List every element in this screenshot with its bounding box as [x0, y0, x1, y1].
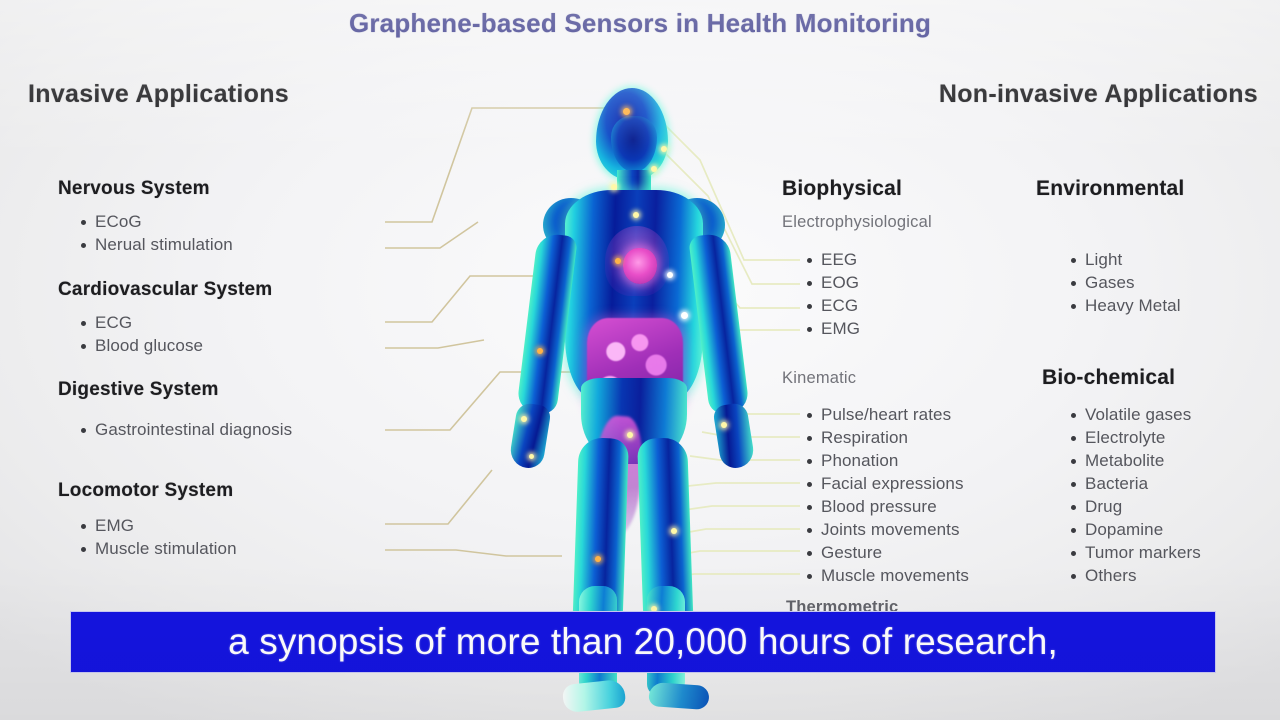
- group-title-locomotor-system: Locomotor System: [58, 480, 233, 502]
- group-title-biophysical: Biophysical: [782, 177, 902, 201]
- sensor-marker-finger-left: [529, 454, 534, 459]
- slide-canvas: Graphene-based Sensors in Health Monitor…: [0, 0, 1280, 720]
- sensor-marker-head: [623, 108, 630, 115]
- subgroup-label-kinematic: Kinematic: [782, 369, 856, 388]
- list-item: Gastrointestinal diagnosis: [78, 418, 292, 441]
- list-item: Pulse/heart rates: [804, 403, 969, 426]
- list-item: EOG: [804, 271, 860, 294]
- list-item: Muscle stimulation: [78, 537, 237, 560]
- sensor-marker-knee-left: [595, 556, 601, 562]
- list-bio-chemical: Volatile gases Electrolyte Metabolite Ba…: [1068, 403, 1201, 587]
- group-title-bio-chemical: Bio-chemical: [1042, 366, 1175, 390]
- sensor-marker-groin: [627, 432, 633, 438]
- list-item: Bacteria: [1068, 472, 1201, 495]
- list-electrophysiological: EEG EOG ECG EMG: [804, 248, 860, 340]
- figure-heart: [623, 248, 657, 284]
- subtitle-caption-text: a synopsis of more than 20,000 hours of …: [228, 621, 1058, 663]
- figure-hand-left: [508, 402, 552, 471]
- list-nervous-system: ECoG Nerual stimulation: [78, 210, 233, 256]
- subtitle-caption-bar: a synopsis of more than 20,000 hours of …: [70, 611, 1216, 673]
- sensor-marker-elbow-left: [537, 348, 543, 354]
- group-title-environmental: Environmental: [1036, 177, 1184, 201]
- list-item: Blood pressure: [804, 495, 969, 518]
- list-item: Blood glucose: [78, 334, 203, 357]
- sensor-marker-neck: [611, 184, 617, 190]
- group-title-digestive-system: Digestive System: [58, 379, 219, 401]
- list-item: EEG: [804, 248, 860, 271]
- sensor-marker-sternum: [667, 272, 673, 278]
- sensor-marker-wrist-left: [521, 416, 527, 422]
- subgroup-label-electrophysiological: Electrophysiological: [782, 213, 932, 232]
- list-item: Tumor markers: [1068, 541, 1201, 564]
- figure-hand-right: [712, 402, 756, 471]
- list-digestive-system: Gastrointestinal diagnosis: [78, 418, 292, 441]
- list-item: Electrolyte: [1068, 426, 1201, 449]
- list-item: Muscle movements: [804, 564, 969, 587]
- list-item: Dopamine: [1068, 518, 1201, 541]
- list-item: Volatile gases: [1068, 403, 1201, 426]
- list-environmental: Light Gases Heavy Metal: [1068, 248, 1181, 317]
- sensor-marker-rib: [681, 312, 688, 319]
- section-header-non-invasive: Non-invasive Applications: [939, 80, 1258, 109]
- group-title-nervous-system: Nervous System: [58, 178, 210, 200]
- list-item: EMG: [78, 514, 237, 537]
- list-item: ECG: [78, 311, 203, 334]
- list-item: EMG: [804, 317, 860, 340]
- list-kinematic: Pulse/heart rates Respiration Phonation …: [804, 403, 969, 587]
- list-item: Heavy Metal: [1068, 294, 1181, 317]
- list-item: Phonation: [804, 449, 969, 472]
- section-header-invasive: Invasive Applications: [28, 80, 289, 109]
- list-item: Drug: [1068, 495, 1201, 518]
- list-item: Respiration: [804, 426, 969, 449]
- sensor-marker-eye: [651, 166, 657, 172]
- sensor-marker-chest: [615, 258, 621, 264]
- list-item: ECG: [804, 294, 860, 317]
- list-locomotor-system: EMG Muscle stimulation: [78, 514, 237, 560]
- sensor-marker-hand-right: [721, 422, 727, 428]
- list-item: Nerual stimulation: [78, 233, 233, 256]
- list-item: Joints movements: [804, 518, 969, 541]
- figure-foot-right: [648, 682, 710, 710]
- list-item: Metabolite: [1068, 449, 1201, 472]
- list-item: Others: [1068, 564, 1201, 587]
- list-item: Gesture: [804, 541, 969, 564]
- list-item: Gases: [1068, 271, 1181, 294]
- list-item: Light: [1068, 248, 1181, 271]
- sensor-marker-temple: [661, 146, 667, 152]
- list-item: ECoG: [78, 210, 233, 233]
- list-item: Facial expressions: [804, 472, 969, 495]
- list-cardiovascular-system: ECG Blood glucose: [78, 311, 203, 357]
- group-title-cardiovascular-system: Cardiovascular System: [58, 279, 272, 301]
- figure-foot-left: [562, 679, 627, 713]
- sensor-marker-knee-right: [671, 528, 677, 534]
- sensor-marker-collar: [633, 212, 639, 218]
